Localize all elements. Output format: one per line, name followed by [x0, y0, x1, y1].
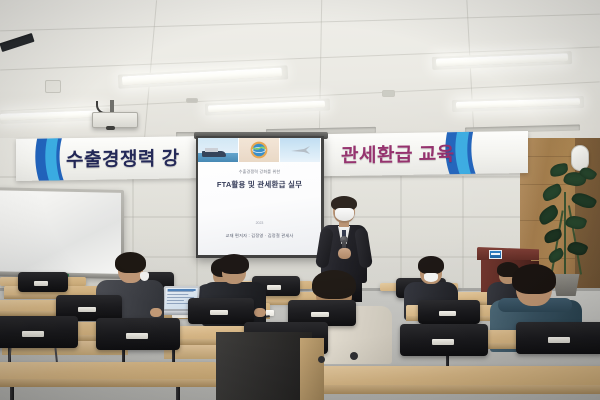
- lectern-emblem-bar: [491, 253, 500, 255]
- chair: [418, 300, 480, 324]
- projection-screen: 수출경쟁력 강화를 위한 FTA활용 및 관세환급 실무 2023 교재 편저자…: [196, 136, 324, 258]
- slide-title: FTA활용 및 관세환급 실무: [198, 179, 321, 190]
- chair: [96, 318, 180, 350]
- attendee-hand: [150, 308, 162, 317]
- face-mask-icon: [140, 272, 149, 281]
- banner-title-left: 수출경쟁력 강: [66, 143, 180, 172]
- wall-tile-seam: [400, 176, 402, 294]
- chair: [188, 298, 254, 324]
- globe-gear-logo: [239, 138, 280, 162]
- slide-author: 교재 편저자 : 김정영 · 김정철 관세사: [198, 233, 321, 239]
- seminar-room-photo: 수출경쟁력 강 관세환급 교육: [0, 0, 600, 400]
- banner-title-right: 관세환급 교육: [341, 139, 455, 168]
- slide-subtitle: 수출경쟁력 강화를 위한: [198, 169, 321, 175]
- ceiling-sensor: [186, 98, 198, 103]
- chair: [516, 322, 600, 354]
- desk-side-panel: [300, 338, 324, 400]
- desk-side-panel: [216, 332, 312, 400]
- presenter-hands: [338, 248, 351, 259]
- cargo-ship-image: [198, 138, 239, 162]
- desk: [318, 366, 600, 386]
- ceiling-speaker: [382, 90, 395, 97]
- wall-tile-seam: [462, 176, 464, 294]
- chair: [0, 316, 78, 348]
- ceiling-access-panel: [45, 80, 61, 93]
- desk: [0, 362, 216, 380]
- chair: [18, 272, 68, 292]
- attendee-hand: [254, 308, 266, 317]
- projector-lens-icon: [106, 126, 115, 130]
- chair-caster: [350, 352, 358, 360]
- face-mask-icon: [335, 208, 354, 221]
- chair-caster: [318, 356, 325, 363]
- presentation-slide: 수출경쟁력 강화를 위한 FTA활용 및 관세환급 실무 2023 교재 편저자…: [198, 138, 321, 255]
- face-mask-icon: [424, 273, 438, 282]
- lectern-top: [477, 247, 539, 260]
- projector: [92, 112, 138, 128]
- airplane-image: [280, 138, 321, 162]
- chair: [400, 324, 488, 356]
- slide-header-images: [198, 138, 321, 162]
- slide-date: 2023: [198, 221, 321, 225]
